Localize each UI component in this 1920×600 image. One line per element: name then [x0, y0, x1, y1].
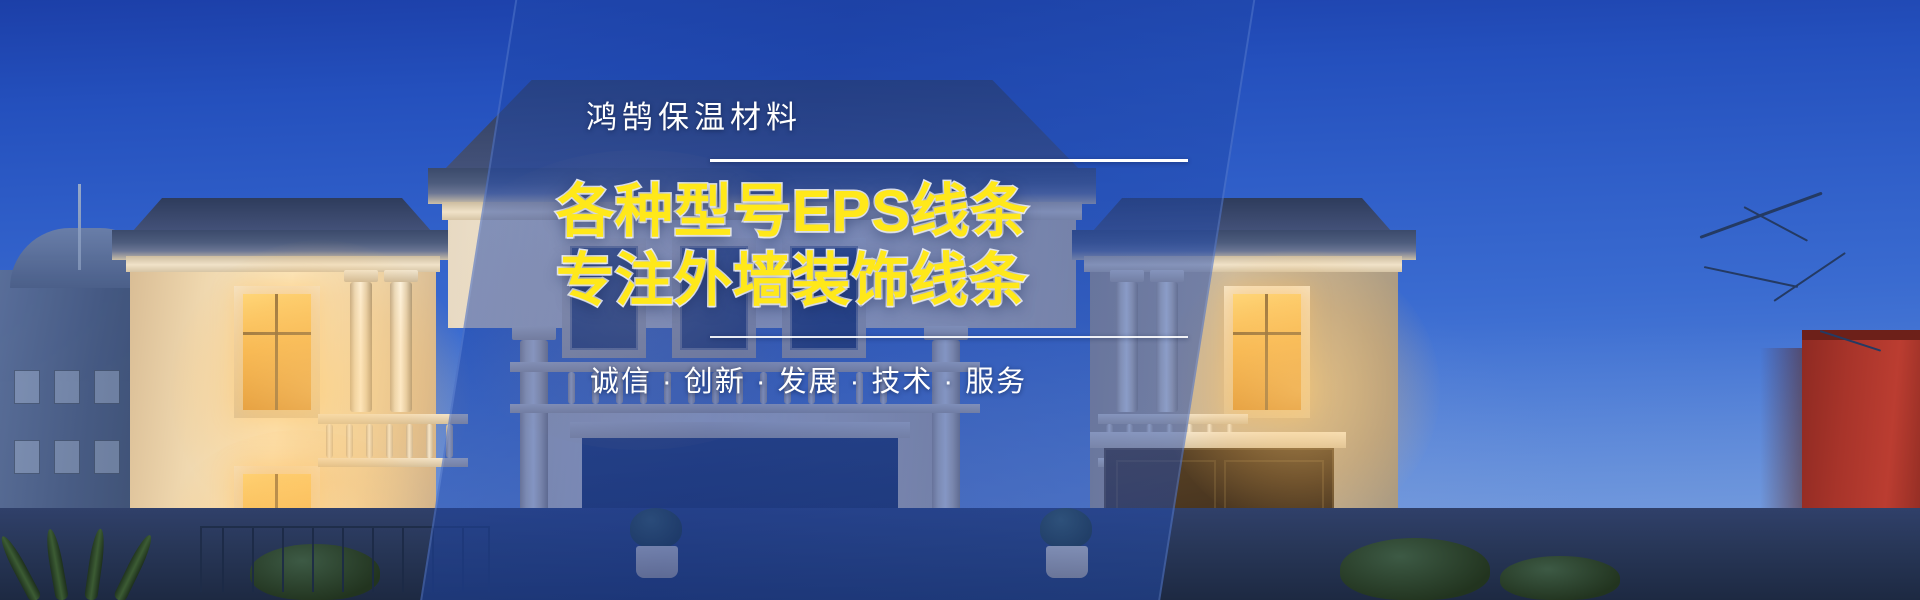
distant-window: [14, 440, 40, 474]
fence-bar: [372, 528, 374, 592]
headline-line-1: 各种型号EPS线条: [556, 180, 1029, 243]
distant-window: [54, 440, 80, 474]
fence-bar: [312, 528, 314, 592]
distant-window: [54, 370, 80, 404]
column: [350, 282, 372, 412]
divider-bottom: [710, 336, 1188, 338]
shrub: [1340, 538, 1490, 600]
column: [390, 282, 412, 412]
brand-kicker: 鸿鹄保温材料: [586, 92, 802, 137]
baluster: [406, 424, 413, 458]
fence-bar: [342, 528, 344, 592]
banner-stage: 鸿鹄保温材料 各种型号EPS线条 专注外墙装饰线条 诚信 · 创新 · 发展 ·…: [0, 0, 1920, 600]
brand-tagline: 诚信 · 创新 · 发展 · 技术 · 服务: [590, 358, 1027, 400]
roof-left-wing: [132, 198, 432, 232]
baluster: [366, 424, 373, 458]
fence-bar: [282, 528, 284, 592]
headline-line-2: 专注外墙装饰线条: [556, 249, 1028, 312]
divider-top: [710, 159, 1188, 162]
column-capital: [344, 270, 378, 282]
window-mullion: [1265, 294, 1268, 410]
baluster: [386, 424, 393, 458]
antenna-mast: [78, 184, 81, 270]
fence-bar: [402, 528, 404, 592]
balustrade-rail: [318, 414, 468, 424]
column-capital: [384, 270, 418, 282]
fence-bar: [222, 528, 224, 592]
baluster: [326, 424, 333, 458]
distant-window: [14, 370, 40, 404]
fence-bar: [252, 528, 254, 592]
banner-copy: 鸿鹄保温材料 各种型号EPS线条 专注外墙装饰线条 诚信 · 创新 · 发展 ·…: [560, 92, 1260, 400]
baluster: [426, 424, 433, 458]
baluster: [346, 424, 353, 458]
window-mullion: [243, 332, 311, 335]
shrub: [1500, 556, 1620, 600]
window-mullion: [275, 294, 278, 410]
